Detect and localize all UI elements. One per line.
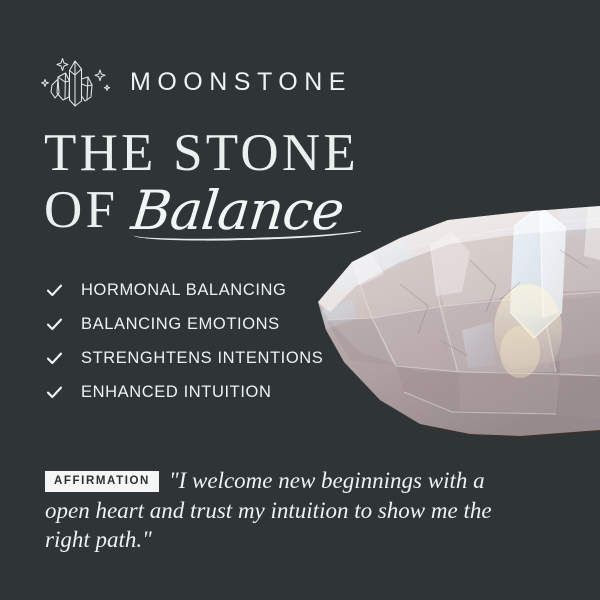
check-icon bbox=[46, 350, 63, 367]
list-item: STRENGHTENS INTENTIONS bbox=[46, 343, 323, 374]
check-icon bbox=[46, 384, 63, 401]
headline: THE STONE OF Balance bbox=[44, 126, 564, 237]
affirmation-block: AFFIRMATION"I welcome new beginnings wit… bbox=[45, 443, 515, 577]
headline-of: OF bbox=[44, 183, 118, 237]
affirmation-badge: AFFIRMATION bbox=[45, 471, 159, 492]
headline-line-2: OF Balance bbox=[44, 182, 564, 237]
benefit-label: STRENGHTENS INTENTIONS bbox=[81, 350, 323, 367]
headline-script-word: Balance bbox=[129, 184, 346, 238]
list-item: BALANCING EMOTIONS bbox=[46, 309, 323, 340]
check-icon bbox=[46, 316, 63, 333]
list-item: ENHANCED INTUITION bbox=[46, 377, 323, 408]
moonstone-poster: MOONSTONE THE STONE OF Balance HORMONAL … bbox=[0, 0, 600, 600]
crystal-cluster-icon bbox=[38, 53, 112, 111]
benefits-list: HORMONAL BALANCING BALANCING EMOTIONS ST… bbox=[46, 275, 323, 411]
list-item: HORMONAL BALANCING bbox=[46, 275, 323, 306]
check-icon bbox=[46, 282, 63, 299]
benefit-label: BALANCING EMOTIONS bbox=[81, 316, 280, 333]
headline-line-1: THE STONE bbox=[44, 126, 564, 180]
brand-name: MOONSTONE bbox=[130, 70, 352, 95]
brand-logo: MOONSTONE bbox=[38, 52, 352, 112]
affirmation-text: AFFIRMATION"I welcome new beginnings wit… bbox=[45, 466, 515, 554]
benefit-label: ENHANCED INTUITION bbox=[81, 384, 271, 401]
benefit-label: HORMONAL BALANCING bbox=[81, 282, 286, 299]
